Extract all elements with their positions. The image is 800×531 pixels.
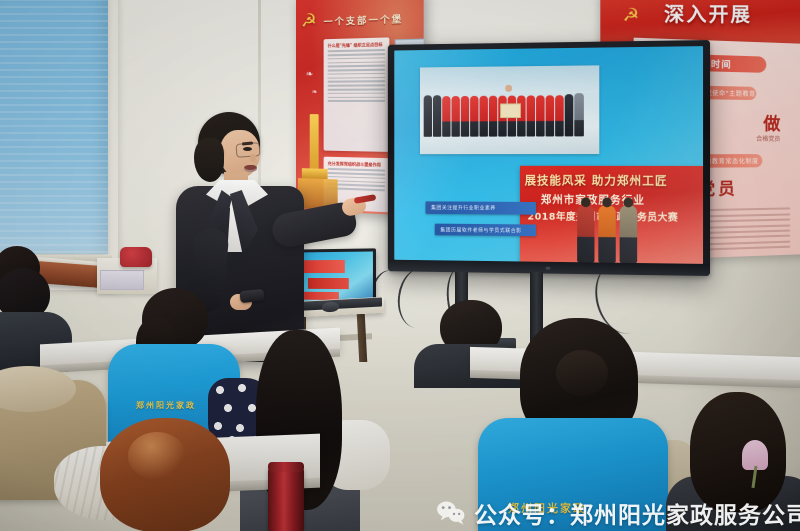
thermos-cap xyxy=(268,462,304,472)
vest-back-text: 郑州阳光家政 xyxy=(136,400,196,411)
red-thermos-bottle xyxy=(268,466,304,531)
presenter-glasses xyxy=(236,142,261,158)
red-bag xyxy=(120,247,152,267)
presenter-remote[interactable] xyxy=(239,289,264,303)
screen-glare xyxy=(394,46,703,264)
window-blind xyxy=(0,0,108,254)
poster-card-heading: 什么是"先锋" 组织立足点目标 xyxy=(328,42,386,49)
headline-char: 堡 xyxy=(392,11,403,25)
photo-scene: ☭ 一 个 支 部 一 个 堡 什么是"先锋" 组织立足点目标 充分发挥党组织战… xyxy=(0,0,800,531)
headline-char: 个 xyxy=(380,12,391,26)
party-emblem-icon: ☭ xyxy=(623,5,640,26)
headline-char: 一 xyxy=(324,14,334,28)
big-word: 做 xyxy=(763,109,780,134)
blind-slats xyxy=(0,0,108,254)
sub-word: 合格党员 xyxy=(756,134,780,143)
party-emblem-icon: ☭ xyxy=(301,11,323,32)
shelf-box xyxy=(100,270,144,290)
headline-char: 部 xyxy=(357,13,367,27)
audience-hair-bun xyxy=(556,350,608,396)
presenter-nose xyxy=(250,154,256,162)
banner-text: 深入开展 xyxy=(664,0,752,27)
dove-icon: ❧ xyxy=(312,88,318,96)
poster-body-lines xyxy=(328,49,386,102)
headline-char: 支 xyxy=(346,13,356,27)
presentation-display[interactable]: 展技能风采 助力郑州工匠 郑州市家政服务行业 2018年度郑州市家政服务员大赛 … xyxy=(388,40,710,276)
headline-char: 一 xyxy=(368,12,378,26)
presenter-mouth xyxy=(244,165,257,172)
audience-hair xyxy=(690,392,786,512)
vest-back-text: 郑州阳光家政 xyxy=(508,500,586,516)
hair-highlight xyxy=(128,432,186,480)
tv-screen[interactable]: 展技能风采 助力郑州工匠 郑州市家政服务行业 2018年度郑州市家政服务员大赛 … xyxy=(394,46,703,264)
presenter-hair-side xyxy=(194,138,224,182)
poster-headline: 一 个 支 部 一 个 堡 xyxy=(324,7,423,31)
tv-power-led xyxy=(546,267,551,270)
headline-char: 个 xyxy=(335,14,345,28)
dove-icon: ❧ xyxy=(306,70,313,80)
flower-bouquet xyxy=(742,440,768,486)
